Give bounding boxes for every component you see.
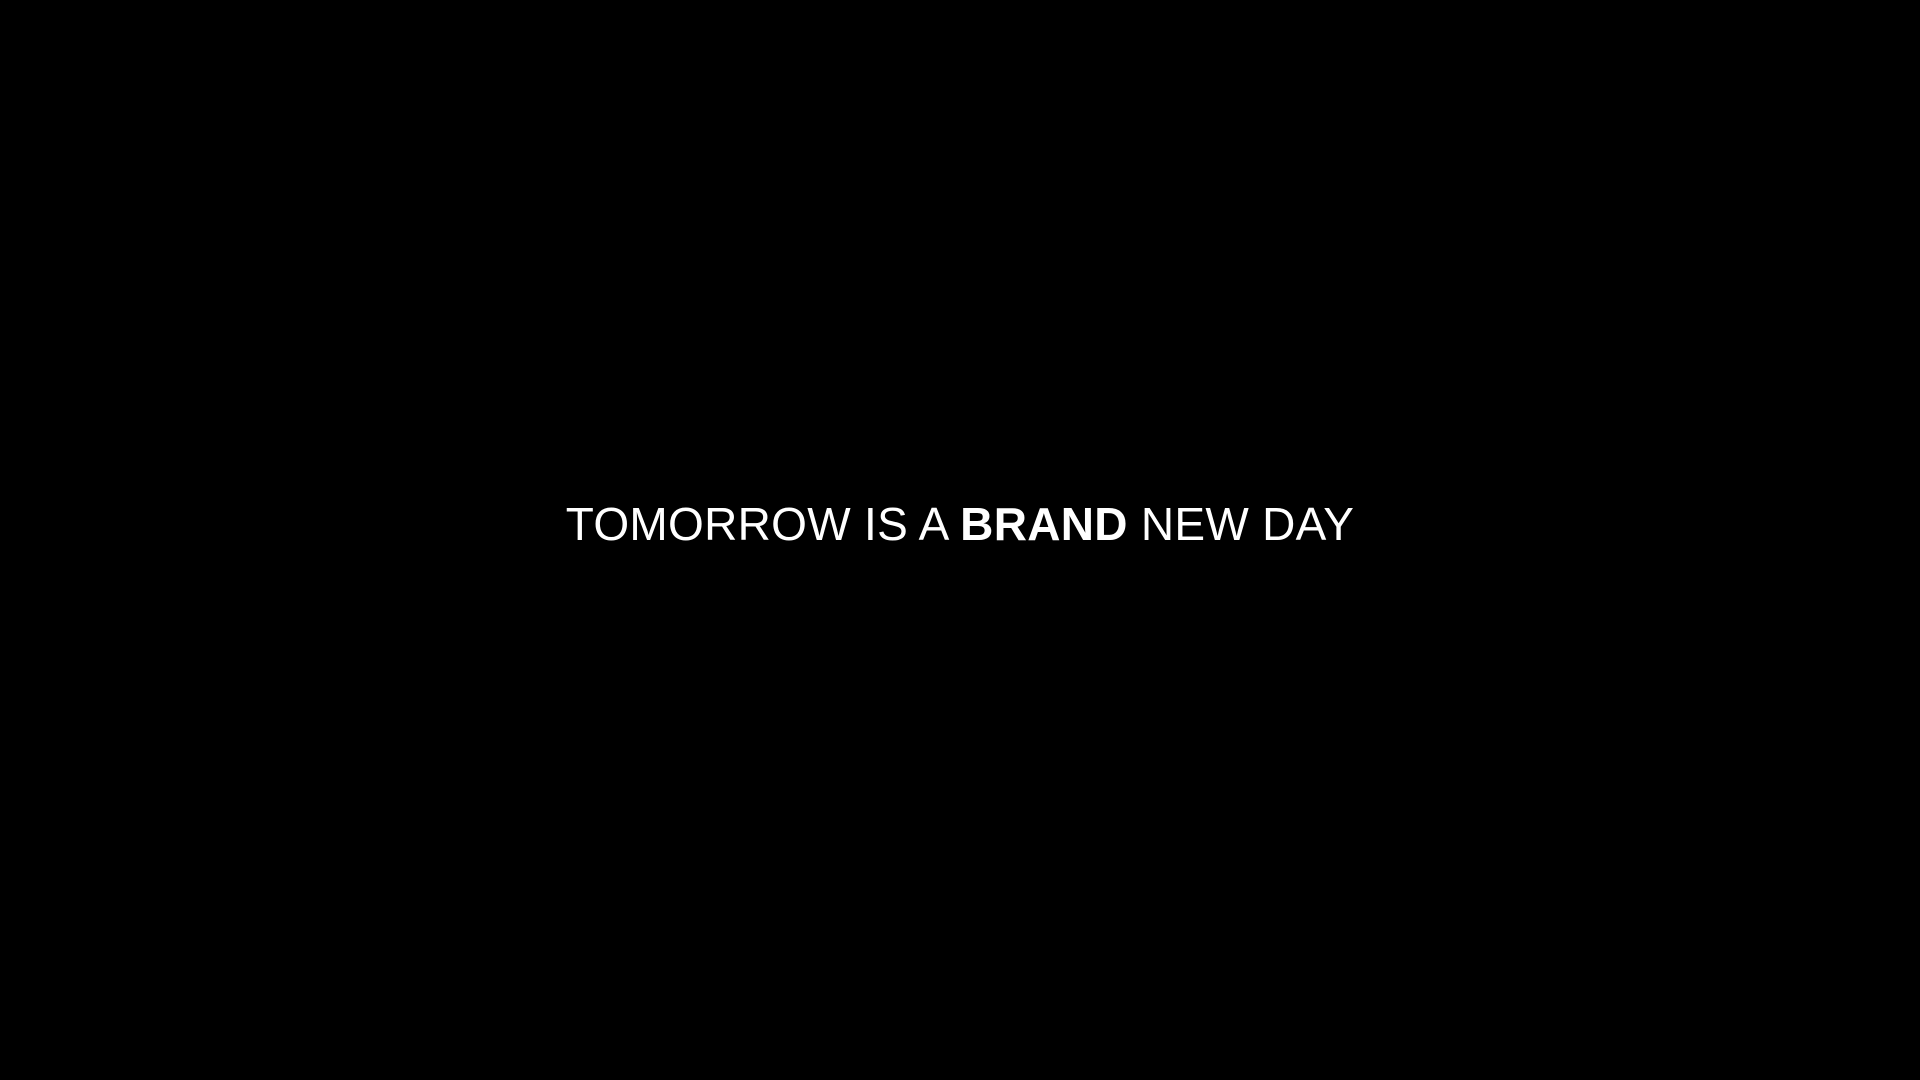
quote-container: TOMORROW IS A BRAND NEW DAY [0,0,1920,1080]
quote-segment-1: TOMORROW IS A [566,498,960,550]
quote-segment-3: NEW DAY [1128,498,1354,550]
quote-segment-emphasis: BRAND [960,498,1128,550]
quote-text: TOMORROW IS A BRAND NEW DAY [566,501,1354,547]
wallpaper-canvas: TOMORROW IS A BRAND NEW DAY [0,0,1920,1080]
